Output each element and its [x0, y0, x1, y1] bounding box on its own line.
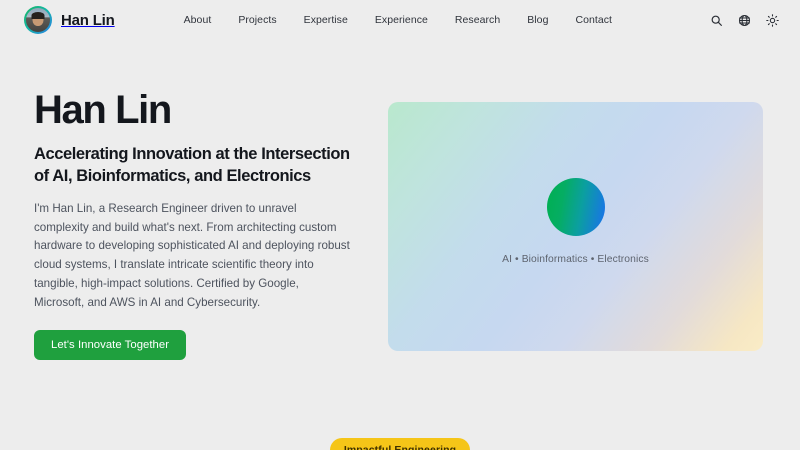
language-button[interactable]: [732, 8, 756, 32]
hero-text-column: Han Lin Accelerating Innovation at the I…: [34, 88, 364, 360]
nav-item-expertise[interactable]: Expertise: [304, 14, 348, 26]
nav-item-contact[interactable]: Contact: [575, 14, 612, 26]
nav-item-experience[interactable]: Experience: [375, 14, 428, 26]
avatar-photo-icon: [26, 8, 50, 32]
theme-toggle-button[interactable]: [760, 8, 784, 32]
page-title: Han Lin: [34, 90, 364, 130]
search-button[interactable]: [704, 8, 728, 32]
nav-item-about[interactable]: About: [184, 14, 212, 26]
header-actions: [704, 8, 784, 32]
primary-nav: About Projects Expertise Experience Rese…: [184, 14, 612, 26]
gradient-orb-icon: [547, 178, 605, 236]
section-badge-container: Impactful Engineering: [0, 438, 800, 450]
site-header: Han Lin About Projects Expertise Experie…: [0, 0, 800, 40]
search-icon: [710, 14, 723, 27]
hero-visual-column: AI • Bioinformatics • Electronics: [388, 88, 770, 360]
sun-icon: [766, 14, 779, 27]
brand-logo-link[interactable]: Han Lin: [24, 6, 115, 34]
nav-item-blog[interactable]: Blog: [527, 14, 548, 26]
nav-item-research[interactable]: Research: [455, 14, 500, 26]
hero-description: I'm Han Lin, a Research Engineer driven …: [34, 200, 352, 313]
hero-card-caption: AI • Bioinformatics • Electronics: [502, 254, 649, 265]
hero-subtitle: Accelerating Innovation at the Intersect…: [34, 144, 359, 188]
hero-gradient-card: AI • Bioinformatics • Electronics: [388, 102, 763, 351]
brand-name: Han Lin: [61, 12, 115, 29]
globe-icon: [738, 14, 751, 27]
section-badge: Impactful Engineering: [330, 438, 470, 450]
cta-innovate-together-button[interactable]: Let's Innovate Together: [34, 330, 186, 360]
nav-item-projects[interactable]: Projects: [238, 14, 276, 26]
hero-section: Han Lin Accelerating Innovation at the I…: [0, 40, 800, 360]
avatar: [24, 6, 52, 34]
